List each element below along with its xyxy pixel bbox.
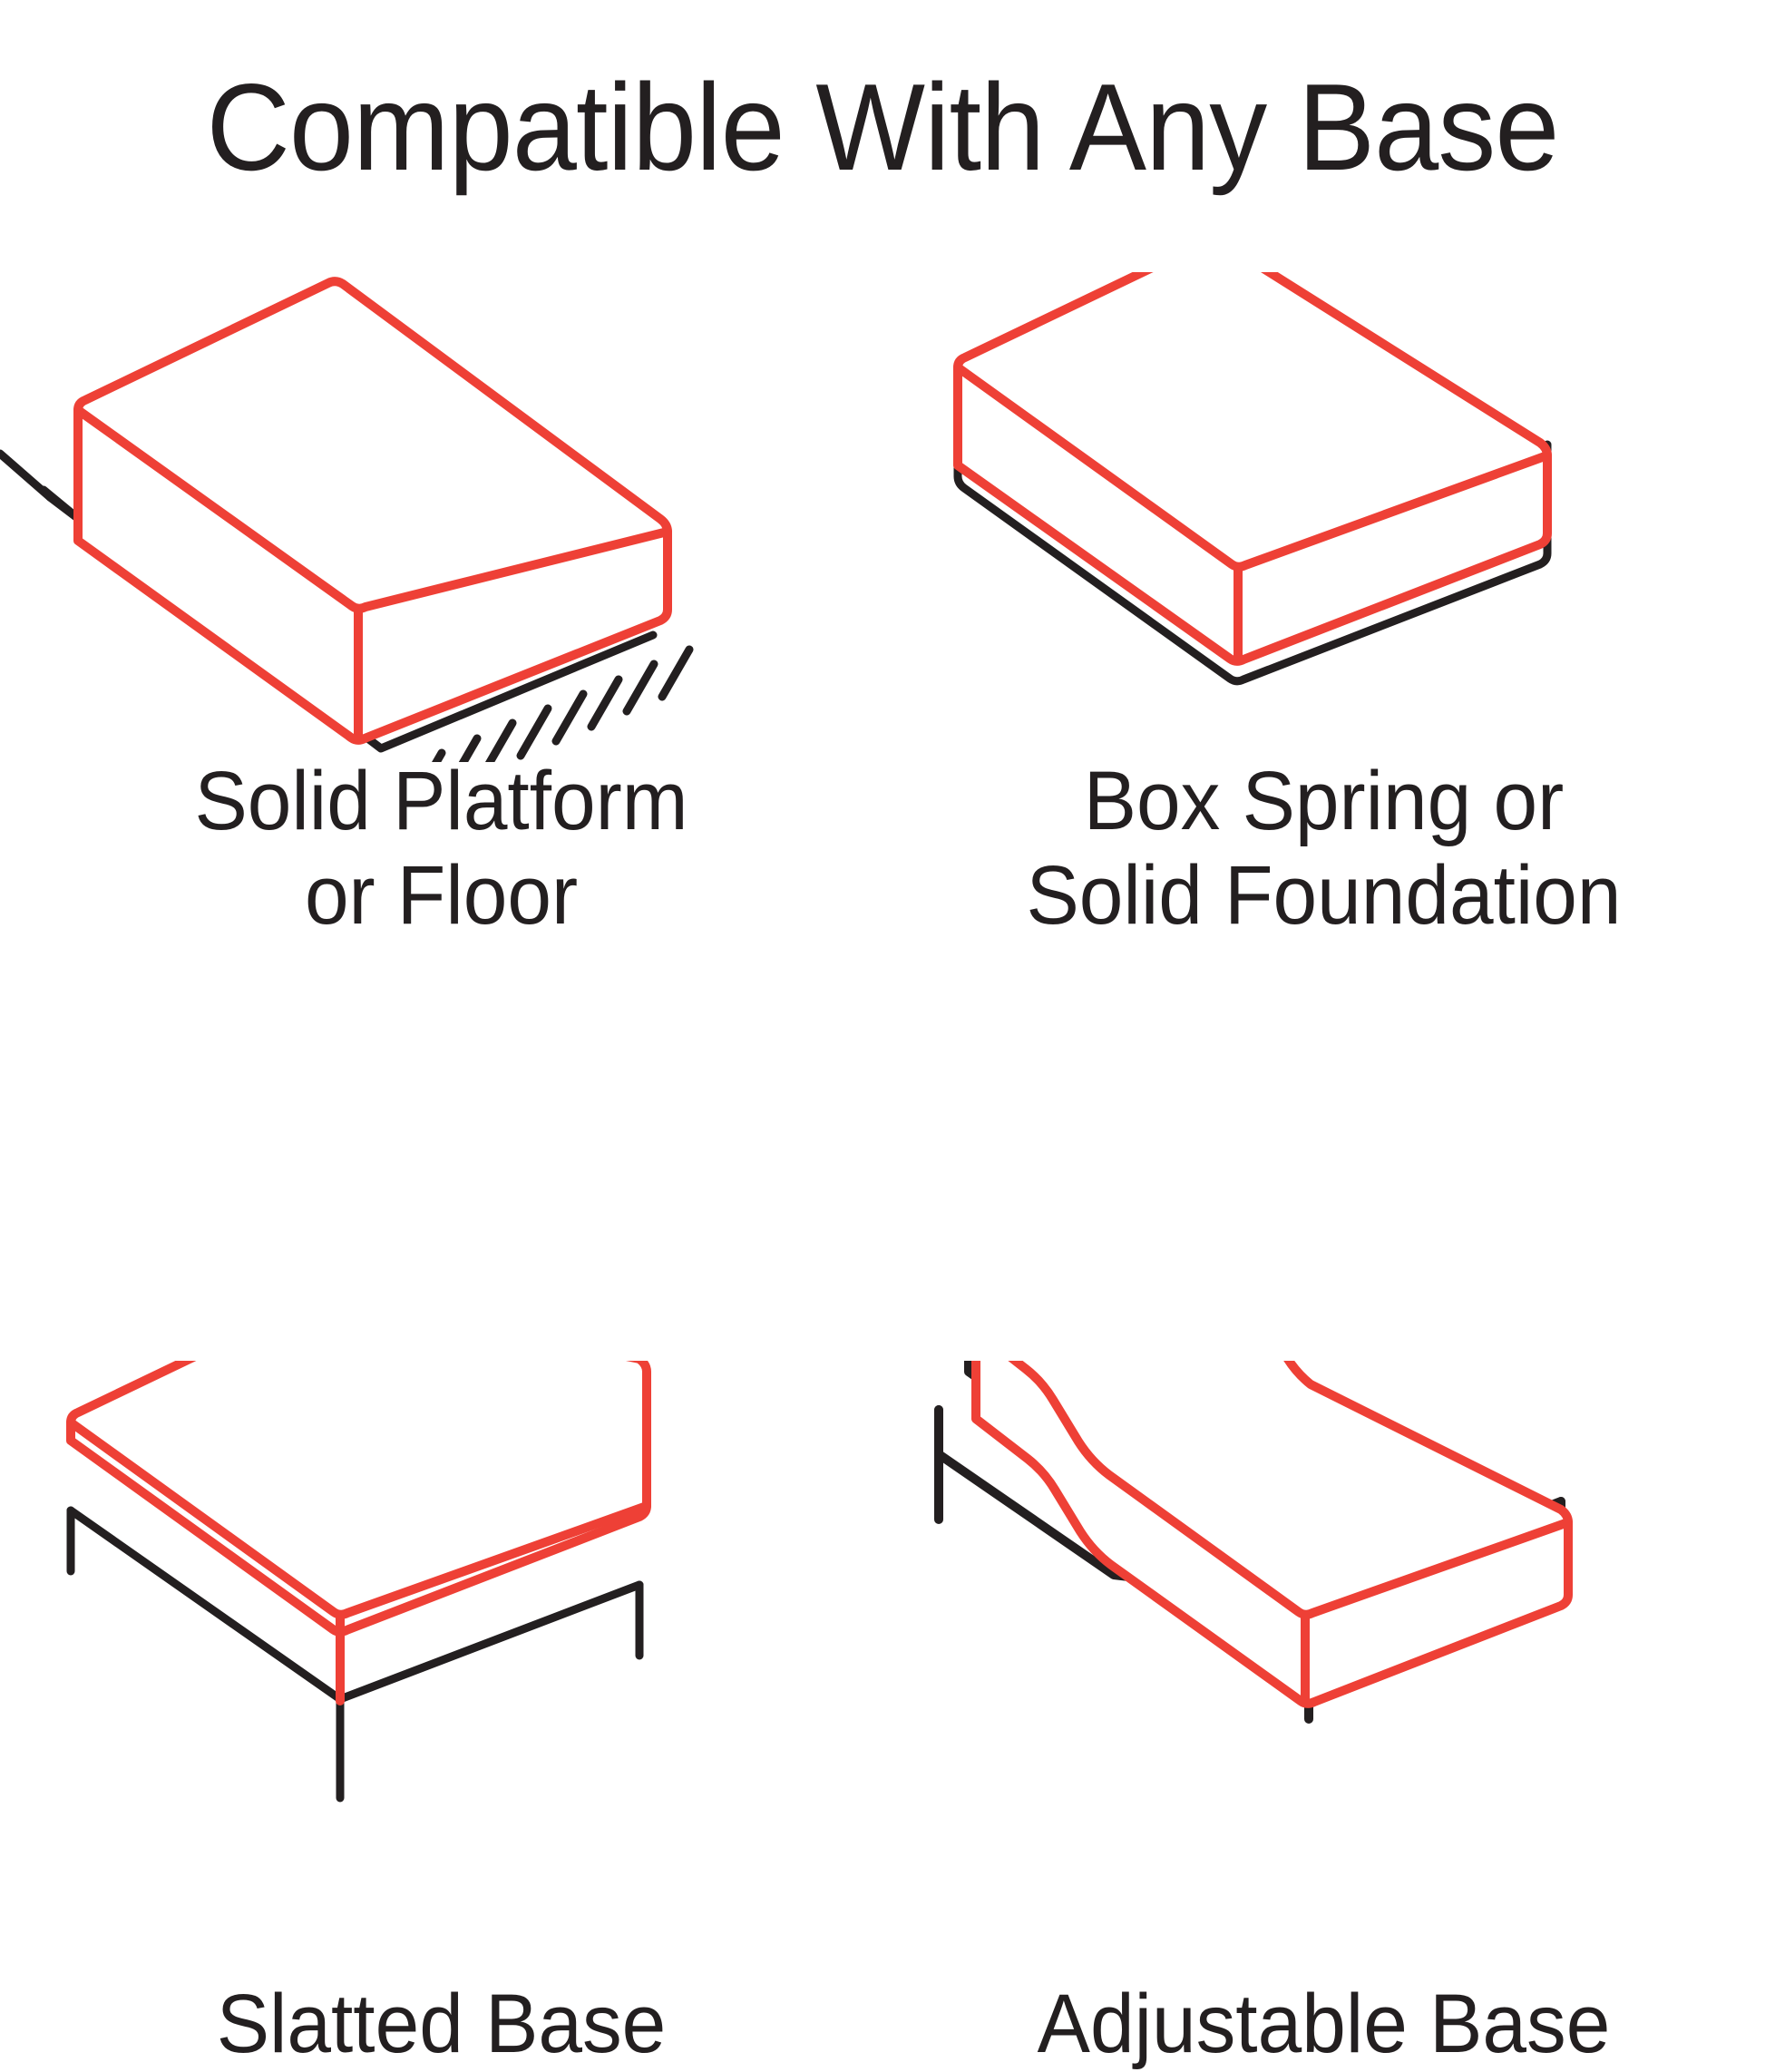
solid-platform-diagram-icon <box>0 272 882 762</box>
base-option-solid-platform[interactable]: Solid Platform or Floor <box>0 272 882 998</box>
slatted-base-diagram-icon <box>0 1361 882 1851</box>
adjustable-base-diagram-icon <box>882 1361 1765 1851</box>
page-title: Compatible With Any Base <box>53 65 1711 189</box>
infographic-canvas: Compatible With Any Base <box>0 0 1765 1765</box>
illustration-mattress-on-adjustable-base <box>882 1361 1765 1851</box>
mattress-outline <box>976 1361 1568 1704</box>
illustration-mattress-on-box-spring <box>882 272 1765 762</box>
caption-solid-platform: Solid Platform or Floor <box>22 755 860 943</box>
base-type-grid: Solid Platform or Floor <box>0 272 1765 1724</box>
mattress-outline <box>78 281 668 740</box>
caption-adjustable-base: Adjustable Base <box>904 1978 1742 2072</box>
base-option-box-spring[interactable]: Box Spring or Solid Foundation <box>882 272 1765 998</box>
illustration-mattress-on-slatted-base <box>0 1361 882 1851</box>
illustration-mattress-on-solid-platform <box>0 272 882 762</box>
mattress-outline <box>71 1361 647 1701</box>
box-spring-diagram-icon <box>882 272 1765 762</box>
base-option-slatted-base[interactable]: Slatted Base <box>0 998 882 1724</box>
caption-box-spring: Box Spring or Solid Foundation <box>904 755 1742 943</box>
base-option-adjustable-base[interactable]: Adjustable Base <box>882 998 1765 1724</box>
caption-slatted-base: Slatted Base <box>22 1978 860 2072</box>
mattress-outline <box>958 272 1547 661</box>
